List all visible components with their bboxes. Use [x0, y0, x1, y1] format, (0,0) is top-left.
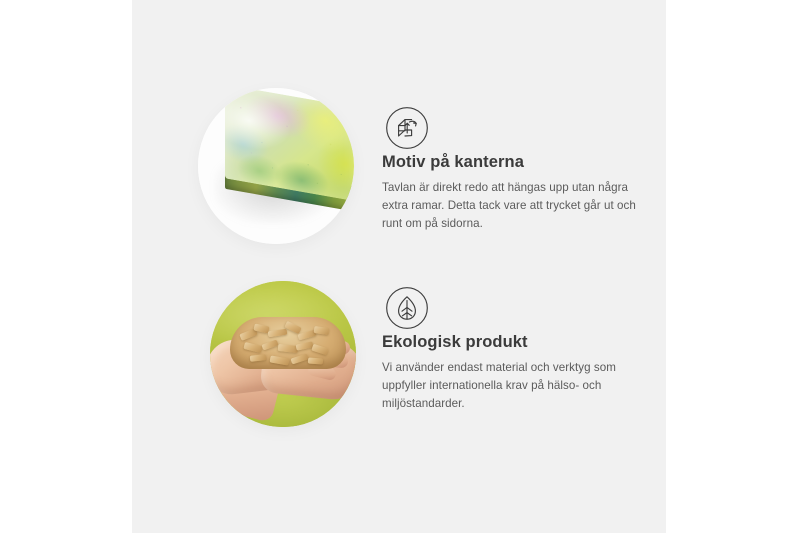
photo-backdrop — [210, 281, 356, 427]
leaf-icon — [385, 286, 429, 335]
canvas-print-corner-photo — [198, 88, 354, 244]
feature-description: Vi använder endast material och verktyg … — [382, 359, 644, 413]
feature-text-block: Motiv på kanterna Tavlan är direkt redo … — [382, 153, 644, 233]
hands-holding-wood-chips-photo — [210, 281, 356, 427]
photo-backdrop — [198, 88, 354, 244]
product-feature-infographic: Motiv på kanterna Tavlan är direkt redo … — [0, 0, 800, 533]
wood-chips-detail — [236, 321, 340, 369]
feature-title: Ekologisk produkt — [382, 333, 644, 353]
feature-text-block: Ekologisk produkt Vi använder endast mat… — [382, 333, 644, 413]
canvas-wrapped-edges-icon — [385, 106, 429, 155]
content-panel: Motiv på kanterna Tavlan är direkt redo … — [132, 0, 666, 533]
feature-title: Motiv på kanterna — [382, 153, 644, 173]
feature-description: Tavlan är direkt redo att hängas upp uta… — [382, 179, 644, 233]
